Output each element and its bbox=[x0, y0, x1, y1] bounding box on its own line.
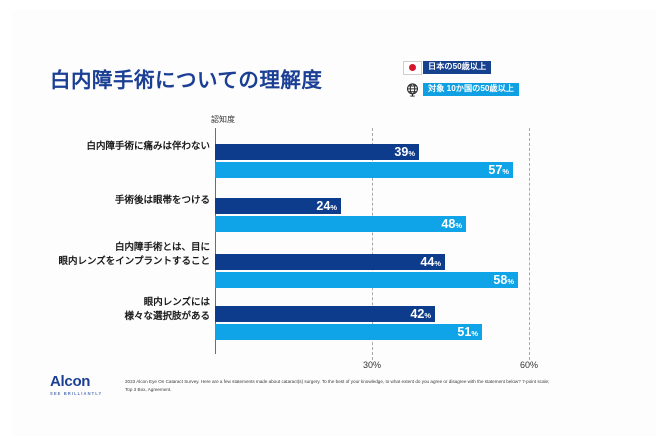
bar-value-global-4: 51% bbox=[457, 326, 482, 339]
bar-japan-2[interactable]: 24% bbox=[215, 198, 341, 214]
category-label-3: 白内障手術とは、目に 眼内レンズをインプラントすること bbox=[58, 241, 210, 269]
category-label-1: 白内障手術に痛みは伴わない bbox=[86, 140, 210, 154]
page-title: 白内障手術についての理解度 bbox=[50, 63, 322, 93]
gridline-60 bbox=[529, 128, 530, 360]
slide-canvas: 白内障手術についての理解度 日本の50歳以上 bbox=[0, 0, 668, 446]
bar-value-global-3: 58% bbox=[493, 274, 518, 287]
y-axis-title: 認知度 bbox=[211, 114, 235, 125]
alcon-logo-wordmark: Alcon bbox=[50, 374, 122, 389]
bar-value-japan-1: 39% bbox=[394, 146, 419, 159]
x-tick-label-60: 60% bbox=[520, 360, 538, 370]
bar-value-global-2: 48% bbox=[441, 218, 466, 231]
bar-global-2[interactable]: 48% bbox=[215, 216, 466, 232]
bar-global-1[interactable]: 57% bbox=[215, 162, 513, 178]
category-labels: 白内障手術に痛みは伴わない 手術後は眼帯をつける 白内障手術とは、目に 眼内レン… bbox=[32, 128, 210, 354]
bar-value-japan-2: 24% bbox=[316, 200, 341, 213]
source-footnote: 2023 Alcon Eye On Cataract Survey. Here … bbox=[125, 378, 555, 394]
legend-item-global-label: 対象 10か国の50歳以上 bbox=[423, 83, 519, 96]
legend-item-global: 対象 10か国の50歳以上 bbox=[401, 80, 601, 99]
slide-frame: 白内障手術についての理解度 日本の50歳以上 bbox=[12, 10, 656, 436]
bar-value-japan-4: 42% bbox=[410, 308, 435, 321]
chart-legend: 日本の50歳以上 対象 10か国の50歳以上 bbox=[401, 58, 601, 102]
legend-item-japan: 日本の50歳以上 bbox=[401, 58, 601, 77]
category-label-4: 眼内レンズには 様々な選択肢がある bbox=[124, 296, 210, 324]
globe-icon bbox=[401, 81, 423, 99]
chart-plot-area: 30% 60% 39% 57% 24% 48% 4 bbox=[215, 128, 545, 354]
alcon-logo-tagline: SEE BRILLIANTLY bbox=[50, 391, 122, 396]
legend-item-japan-label: 日本の50歳以上 bbox=[423, 61, 491, 74]
bar-global-3[interactable]: 58% bbox=[215, 272, 518, 288]
bar-value-global-1: 57% bbox=[488, 164, 513, 177]
bar-japan-4[interactable]: 42% bbox=[215, 306, 435, 322]
bar-global-4[interactable]: 51% bbox=[215, 324, 482, 340]
category-label-2: 手術後は眼帯をつける bbox=[115, 194, 210, 208]
bar-japan-3[interactable]: 44% bbox=[215, 254, 445, 270]
bar-value-japan-3: 44% bbox=[420, 256, 445, 269]
alcon-logo: Alcon SEE BRILLIANTLY bbox=[50, 374, 122, 396]
x-tick-label-30: 30% bbox=[363, 360, 381, 370]
bar-japan-1[interactable]: 39% bbox=[215, 144, 419, 160]
japan-flag-icon bbox=[401, 59, 423, 77]
